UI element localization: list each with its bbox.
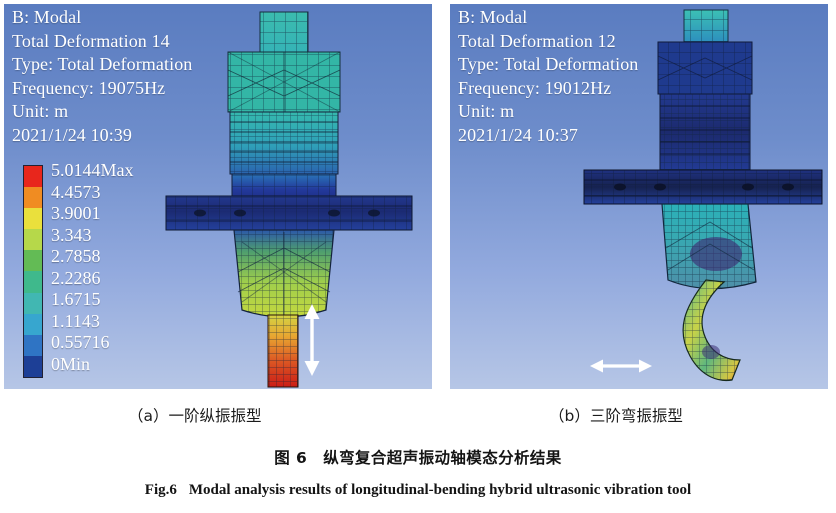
legend-value-7: 1.1143: [51, 311, 134, 332]
legend-value-2: 3.9001: [51, 203, 134, 224]
model-part-flange: [166, 196, 412, 230]
figure-number-cn: 图 6: [274, 449, 307, 467]
subfigure-caption-b: （b）三阶弯振振型: [549, 404, 683, 426]
model-longitudinal-mode[interactable]: [164, 10, 424, 389]
legend-color-bar: [23, 165, 43, 378]
legend-value-5: 2.2286: [51, 268, 134, 289]
figure-container: B: Modal Total Deformation 14 Type: Tota…: [0, 0, 836, 513]
legend-swatch-2: [24, 208, 42, 229]
legend-swatch-6: [24, 293, 42, 314]
ansys-viewport-a[interactable]: B: Modal Total Deformation 14 Type: Tota…: [4, 4, 432, 389]
legend-swatch-8: [24, 335, 42, 356]
figure-title-cn: 纵弯复合超声振动轴模态分析结果: [323, 449, 562, 467]
legend-swatch-7: [24, 314, 42, 335]
legend-value-6: 1.6715: [51, 289, 134, 310]
legend-value-max: 5.0144Max: [51, 160, 134, 181]
model-part-flange: [584, 170, 822, 204]
model-part-transducer-upper: [228, 52, 340, 112]
legend-swatch-9: [24, 356, 42, 377]
legend-swatch-4: [24, 250, 42, 271]
model-part-stud: [260, 12, 308, 52]
figure-number-en: Fig.6: [145, 482, 177, 498]
figure-title-en: Modal analysis results of longitudinal-b…: [189, 482, 691, 498]
model-part-horn-cone: [662, 204, 756, 289]
figure-caption-chinese: 图 6纵弯复合超声振动轴模态分析结果: [0, 446, 836, 468]
legend-swatch-0: [24, 166, 42, 187]
legend-value-1: 4.4573: [51, 182, 134, 203]
model-part-piezo-stack: [660, 94, 750, 170]
subfigure-caption-a: （a）一阶纵振振型: [128, 404, 262, 426]
model-part-stud: [684, 10, 728, 42]
horizontal-double-arrow-icon: [590, 356, 652, 376]
color-legend-a: 5.0144Max 4.4573 3.9001 3.343 2.7858 2.2…: [23, 165, 134, 378]
model-part-piezo-stack: [230, 112, 338, 174]
legend-value-min: 0Min: [51, 354, 134, 375]
legend-value-4: 2.7858: [51, 246, 134, 267]
model-part-bent-tool: [683, 280, 740, 380]
figure-caption-english: Fig.6Modal analysis results of longitudi…: [0, 482, 836, 499]
model-part-tool-tip: [268, 315, 298, 387]
model-part-transducer-upper: [658, 42, 752, 94]
model-bending-mode[interactable]: [580, 8, 828, 389]
legend-value-8: 0.55716: [51, 332, 134, 353]
legend-swatch-5: [24, 271, 42, 292]
legend-value-labels: 5.0144Max 4.4573 3.9001 3.343 2.7858 2.2…: [51, 160, 134, 375]
legend-value-3: 3.343: [51, 225, 134, 246]
ansys-viewport-b[interactable]: B: Modal Total Deformation 12 Type: Tota…: [450, 4, 828, 389]
legend-swatch-1: [24, 187, 42, 208]
legend-swatch-3: [24, 229, 42, 250]
vertical-double-arrow-icon: [300, 304, 324, 376]
